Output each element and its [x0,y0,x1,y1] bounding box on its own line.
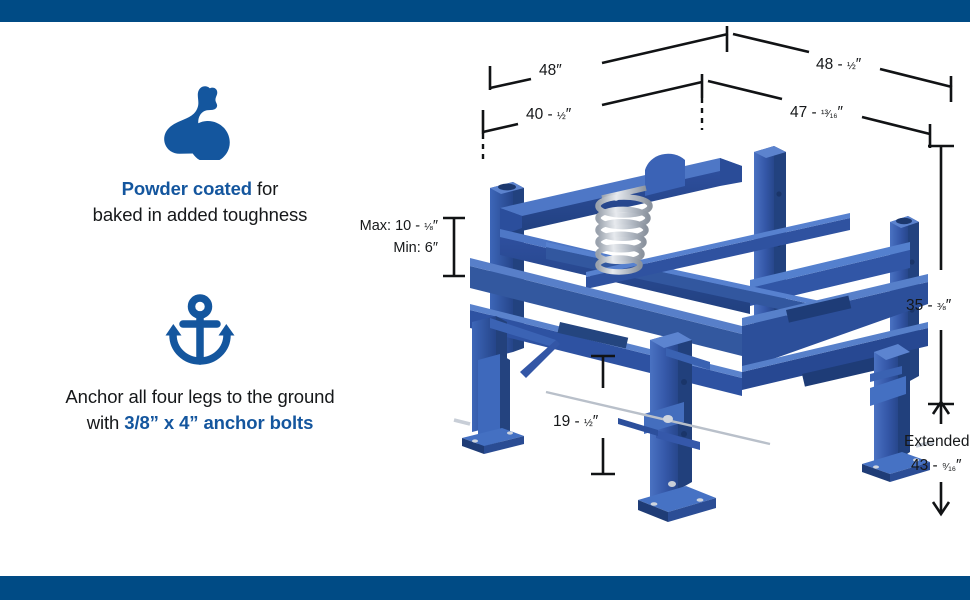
dim-travel-range: Max: 10 - ⅛″ Min: 6″ [360,218,465,276]
feature-anchor-line2-prefix: with [87,412,125,433]
dim-label-travel-min: Min: 6″ [393,240,438,256]
dim-label-48-half: 48 - ½″ [816,56,862,73]
dim-top-width-40-half: 40 - ½″ [483,74,702,164]
dim-label-47-13-16: 47 - ¹³⁄₁₆″ [790,104,844,121]
feature-anchor-line2-bold: 3/8” x 4” anchor bolts [124,412,313,433]
top-brand-bar [0,0,970,22]
dim-label-19-half: 19 - ½″ [553,413,599,430]
dim-leg-height-19-half: 19 - ½″ [553,356,615,474]
feature-powder-coated: Powder coated for baked in added toughne… [0,84,400,229]
dim-label-48: 48″ [539,62,562,79]
feature-anchor-bolts: Anchor all four legs to the ground with … [0,294,400,437]
feature-powder-coated-rest: for [252,178,278,199]
stand-illustration [454,146,934,522]
dim-label-35-3-8: 35 - ⅜″ [906,297,952,314]
dim-top-width-48: 48″ [490,26,728,90]
feature-anchor-line1: Anchor all four legs to the ground [65,386,334,407]
equipment-stand-dimension-diagram: 48″ 40 - ½″ 48 - ½″ [350,22,970,576]
infographic-page: Powder coated for baked in added toughne… [0,0,970,600]
feature-list: Powder coated for baked in added toughne… [0,22,400,576]
dim-top-depth-47-13-16: 47 - ¹³⁄₁₆″ [708,81,930,148]
flexed-bicep-icon [0,84,400,160]
feature-anchor-bolts-text: Anchor all four legs to the ground with … [0,384,400,437]
feature-powder-coated-bold: Powder coated [122,178,252,199]
bottom-brand-bar [0,576,970,600]
dim-label-43-9-16: 43 - ⁹⁄₁₆″ [911,457,962,474]
anchor-icon [0,294,400,368]
feature-powder-coated-line2: baked in added toughness [93,204,308,225]
dim-label-extended: Extended [904,433,970,450]
dim-top-depth-48-half: 48 - ½″ [733,34,952,102]
dim-label-travel-max: Max: 10 - ⅛″ [360,218,438,234]
dim-label-40-half: 40 - ½″ [526,106,572,123]
dim-extended-43-9-16: Extended 43 - ⁹⁄₁₆″ [904,402,970,514]
feature-powder-coated-text: Powder coated for baked in added toughne… [0,176,400,229]
